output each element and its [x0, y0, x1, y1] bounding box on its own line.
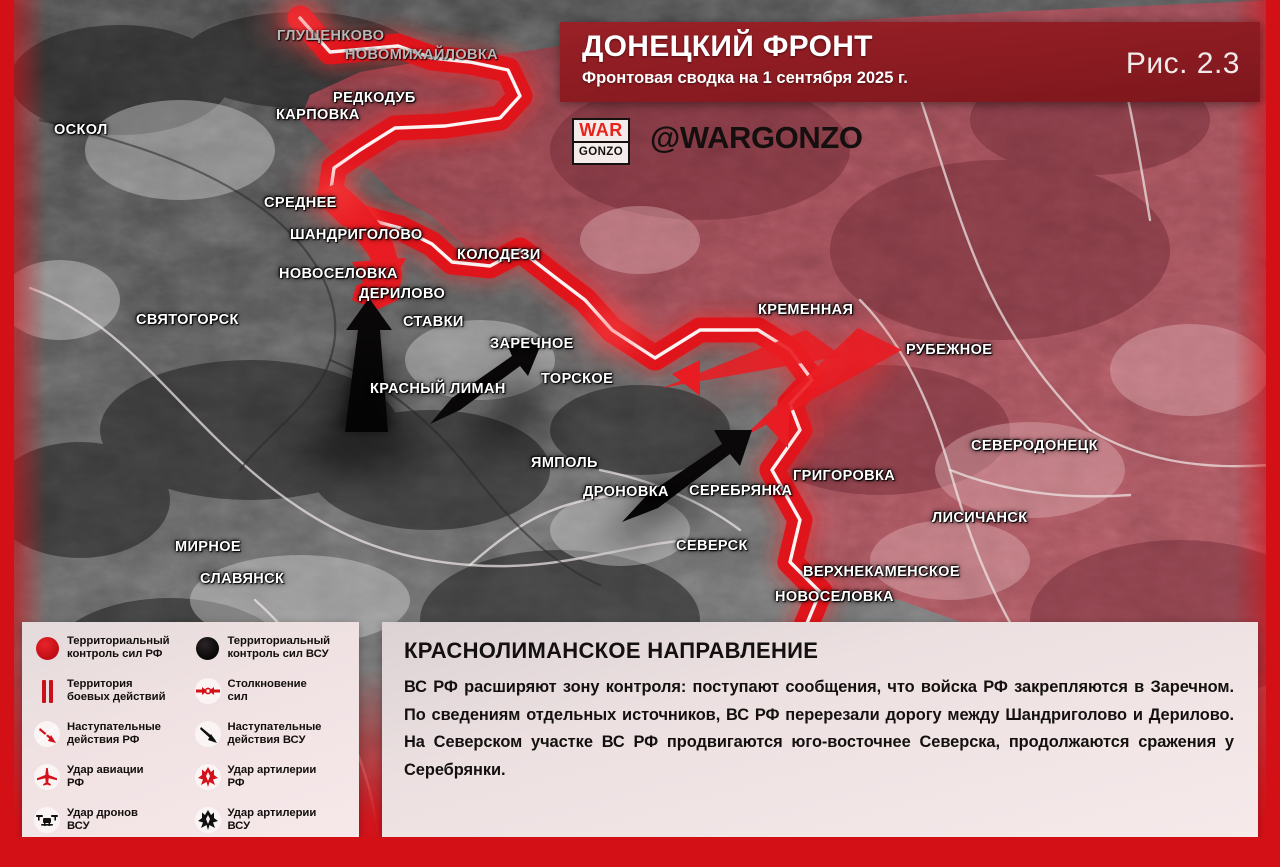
map-label-заречное: ЗАРЕЧНОЕ: [490, 336, 574, 352]
map-label-северодонецк: СЕВЕРОДОНЕЦК: [971, 438, 1098, 454]
report-title: КРАСНОЛИМАНСКОЕ НАПРАВЛЕНИЕ: [404, 638, 1234, 664]
report-body: ВС РФ расширяют зону контроля: поступают…: [404, 674, 1234, 784]
map-label-торское: ТОРСКОЕ: [541, 371, 613, 387]
map-label-ямполь: ЯМПОЛЬ: [531, 455, 598, 471]
rf-airstrike-plane-icon: [34, 764, 60, 790]
map-label-святогорск: СВЯТОГОРСК: [136, 312, 239, 328]
legend-item-label: Столкновениесил: [228, 677, 307, 704]
rf-artillery-burst-disc: [195, 764, 221, 790]
map-label-шандриголово: ШАНДРИГОЛОВО: [290, 227, 423, 243]
clash-of-forces-arrows-disc: [195, 678, 221, 704]
logo-war-text: WAR: [574, 120, 628, 143]
legend-item-rf-airstrike-plane: Удар авиацииРФ: [34, 763, 191, 803]
ukr-offensive-arrow-disc: [195, 721, 221, 747]
map-label-славянск: СЛАВЯНСК: [200, 571, 284, 587]
map-label-григоровка: ГРИГОРОВКА: [793, 468, 895, 484]
legend-item-label: Удар дроновВСУ: [67, 806, 138, 833]
header-bar: ДОНЕЦКИЙ ФРОНТ Фронтовая сводка на 1 сен…: [560, 22, 1260, 102]
map-infographic: ГЛУЩЕНКОВОНОВОМИХАЙЛОВКАРЕДКОДУБКАРПОВКА…: [0, 0, 1280, 867]
combat-zone-bars-shape: [42, 680, 53, 703]
map-label-лисичанск: ЛИСИЧАНСК: [932, 510, 1028, 526]
ukr-artillery-burst-icon: [195, 807, 221, 833]
map-label-кременная: КРЕМЕННАЯ: [758, 302, 853, 318]
clash-of-forces-arrows-icon: [195, 678, 221, 704]
rf-control-circle-icon: [34, 635, 60, 661]
combat-zone-bars-icon: [34, 678, 60, 704]
legend-item-label: Наступательныедействия РФ: [67, 720, 161, 747]
legend-item-label: Удар артилерииВСУ: [228, 806, 317, 833]
social-handle: @WARGONZO: [650, 120, 863, 156]
figure-label: Рис. 2.3: [1126, 47, 1240, 81]
ukr-control-circle-shape: [196, 637, 219, 660]
logo-gonzo-text: GONZO: [574, 143, 628, 164]
legend-item-label: Удар артилерииРФ: [228, 763, 317, 790]
legend-item-ukr-control-circle: Территориальныйконтроль сил ВСУ: [195, 634, 352, 674]
rf-airstrike-plane-disc: [34, 764, 60, 790]
map-label-новомихайловка: НОВОМИХАЙЛОВКА: [345, 47, 498, 63]
rf-offensive-arrow-icon: [34, 721, 60, 747]
legend-item-rf-offensive-arrow: Наступательныедействия РФ: [34, 720, 191, 760]
legend-item-label: Территориальныйконтроль сил ВСУ: [228, 634, 331, 661]
map-label-красный-лиман: КРАСНЫЙ ЛИМАН: [370, 381, 506, 397]
map-label-редкодуб: РЕДКОДУБ: [333, 90, 416, 106]
map-label-новоселовка: НОВОСЕЛОВКА: [279, 266, 398, 282]
legend-item-rf-control-circle: Территориальныйконтроль сил РФ: [34, 634, 191, 674]
legend-item-ukr-artillery-burst: Удар артилерииВСУ: [195, 806, 352, 846]
map-label-колодези: КОЛОДЕЗИ: [457, 247, 541, 263]
map-label-верхнекаменское: ВЕРХНЕКАМЕНСКОЕ: [803, 564, 960, 580]
map-label-среднее: СРЕДНЕЕ: [264, 195, 337, 211]
ukr-drone-strike-icon: [34, 807, 60, 833]
map-label-глущенково: ГЛУЩЕНКОВО: [277, 28, 385, 44]
report-panel: КРАСНОЛИМАНСКОЕ НАПРАВЛЕНИЕ ВС РФ расшир…: [382, 622, 1258, 848]
map-label-оскол: ОСКОЛ: [54, 122, 108, 138]
map-label-дерилово: ДЕРИЛОВО: [359, 286, 445, 302]
ukr-drone-strike-disc: [34, 807, 60, 833]
legend-item-rf-artillery-burst: Удар артилерииРФ: [195, 763, 352, 803]
legend-item-clash-of-forces-arrows: Столкновениесил: [195, 677, 352, 717]
legend-item-label: Удар авиацииРФ: [67, 763, 144, 790]
map-label-новоселовка: НОВОСЕЛОВКА: [775, 589, 894, 605]
rf-artillery-burst-icon: [195, 764, 221, 790]
map-label-дроновка: ДРОНОВКА: [583, 484, 669, 500]
map-label-ставки: СТАВКИ: [403, 314, 464, 330]
legend-item-ukr-offensive-arrow: Наступательныедействия ВСУ: [195, 720, 352, 760]
wargonzo-logo: WAR GONZO: [572, 118, 630, 165]
map-label-карповка: КАРПОВКА: [276, 107, 360, 123]
map-label-мирное: МИРНОЕ: [175, 539, 241, 555]
map-legend: Территориальныйконтроль сил РФТерриториа…: [22, 622, 359, 847]
map-label-северск: СЕВЕРСК: [676, 538, 748, 554]
ukr-control-circle-icon: [195, 635, 221, 661]
ukr-offensive-arrow-icon: [195, 721, 221, 747]
rf-offensive-arrow-disc: [34, 721, 60, 747]
rf-control-circle-shape: [36, 637, 59, 660]
map-label-серебрянка: СЕРЕБРЯНКА: [689, 483, 792, 499]
legend-item-label: Территориябоевых действий: [67, 677, 165, 704]
legend-item-label: Территориальныйконтроль сил РФ: [67, 634, 170, 661]
legend-item-ukr-drone-strike: Удар дроновВСУ: [34, 806, 191, 846]
ukr-artillery-burst-disc: [195, 807, 221, 833]
legend-item-label: Наступательныедействия ВСУ: [228, 720, 322, 747]
legend-item-combat-zone-bars: Территориябоевых действий: [34, 677, 191, 717]
map-label-рубежное: РУБЕЖНОЕ: [906, 342, 992, 358]
